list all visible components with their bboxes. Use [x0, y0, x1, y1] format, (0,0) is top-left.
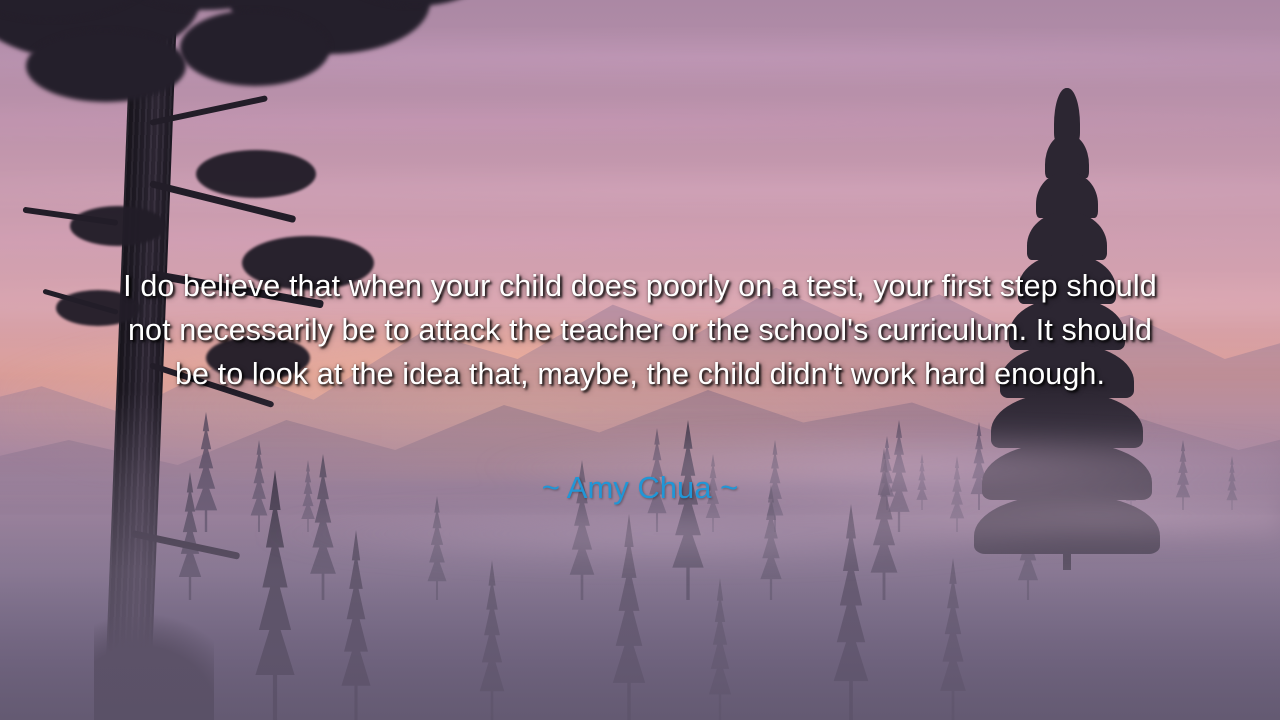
quote-text: I do believe that when your child does p…: [120, 264, 1160, 396]
quote-attribution: ~ Amy Chua ~: [0, 466, 1280, 510]
quote-text-block: I do believe that when your child does p…: [0, 264, 1280, 396]
quote-image: I do believe that when your child does p…: [0, 0, 1280, 720]
upper-canopy-foliage: [0, 0, 490, 220]
